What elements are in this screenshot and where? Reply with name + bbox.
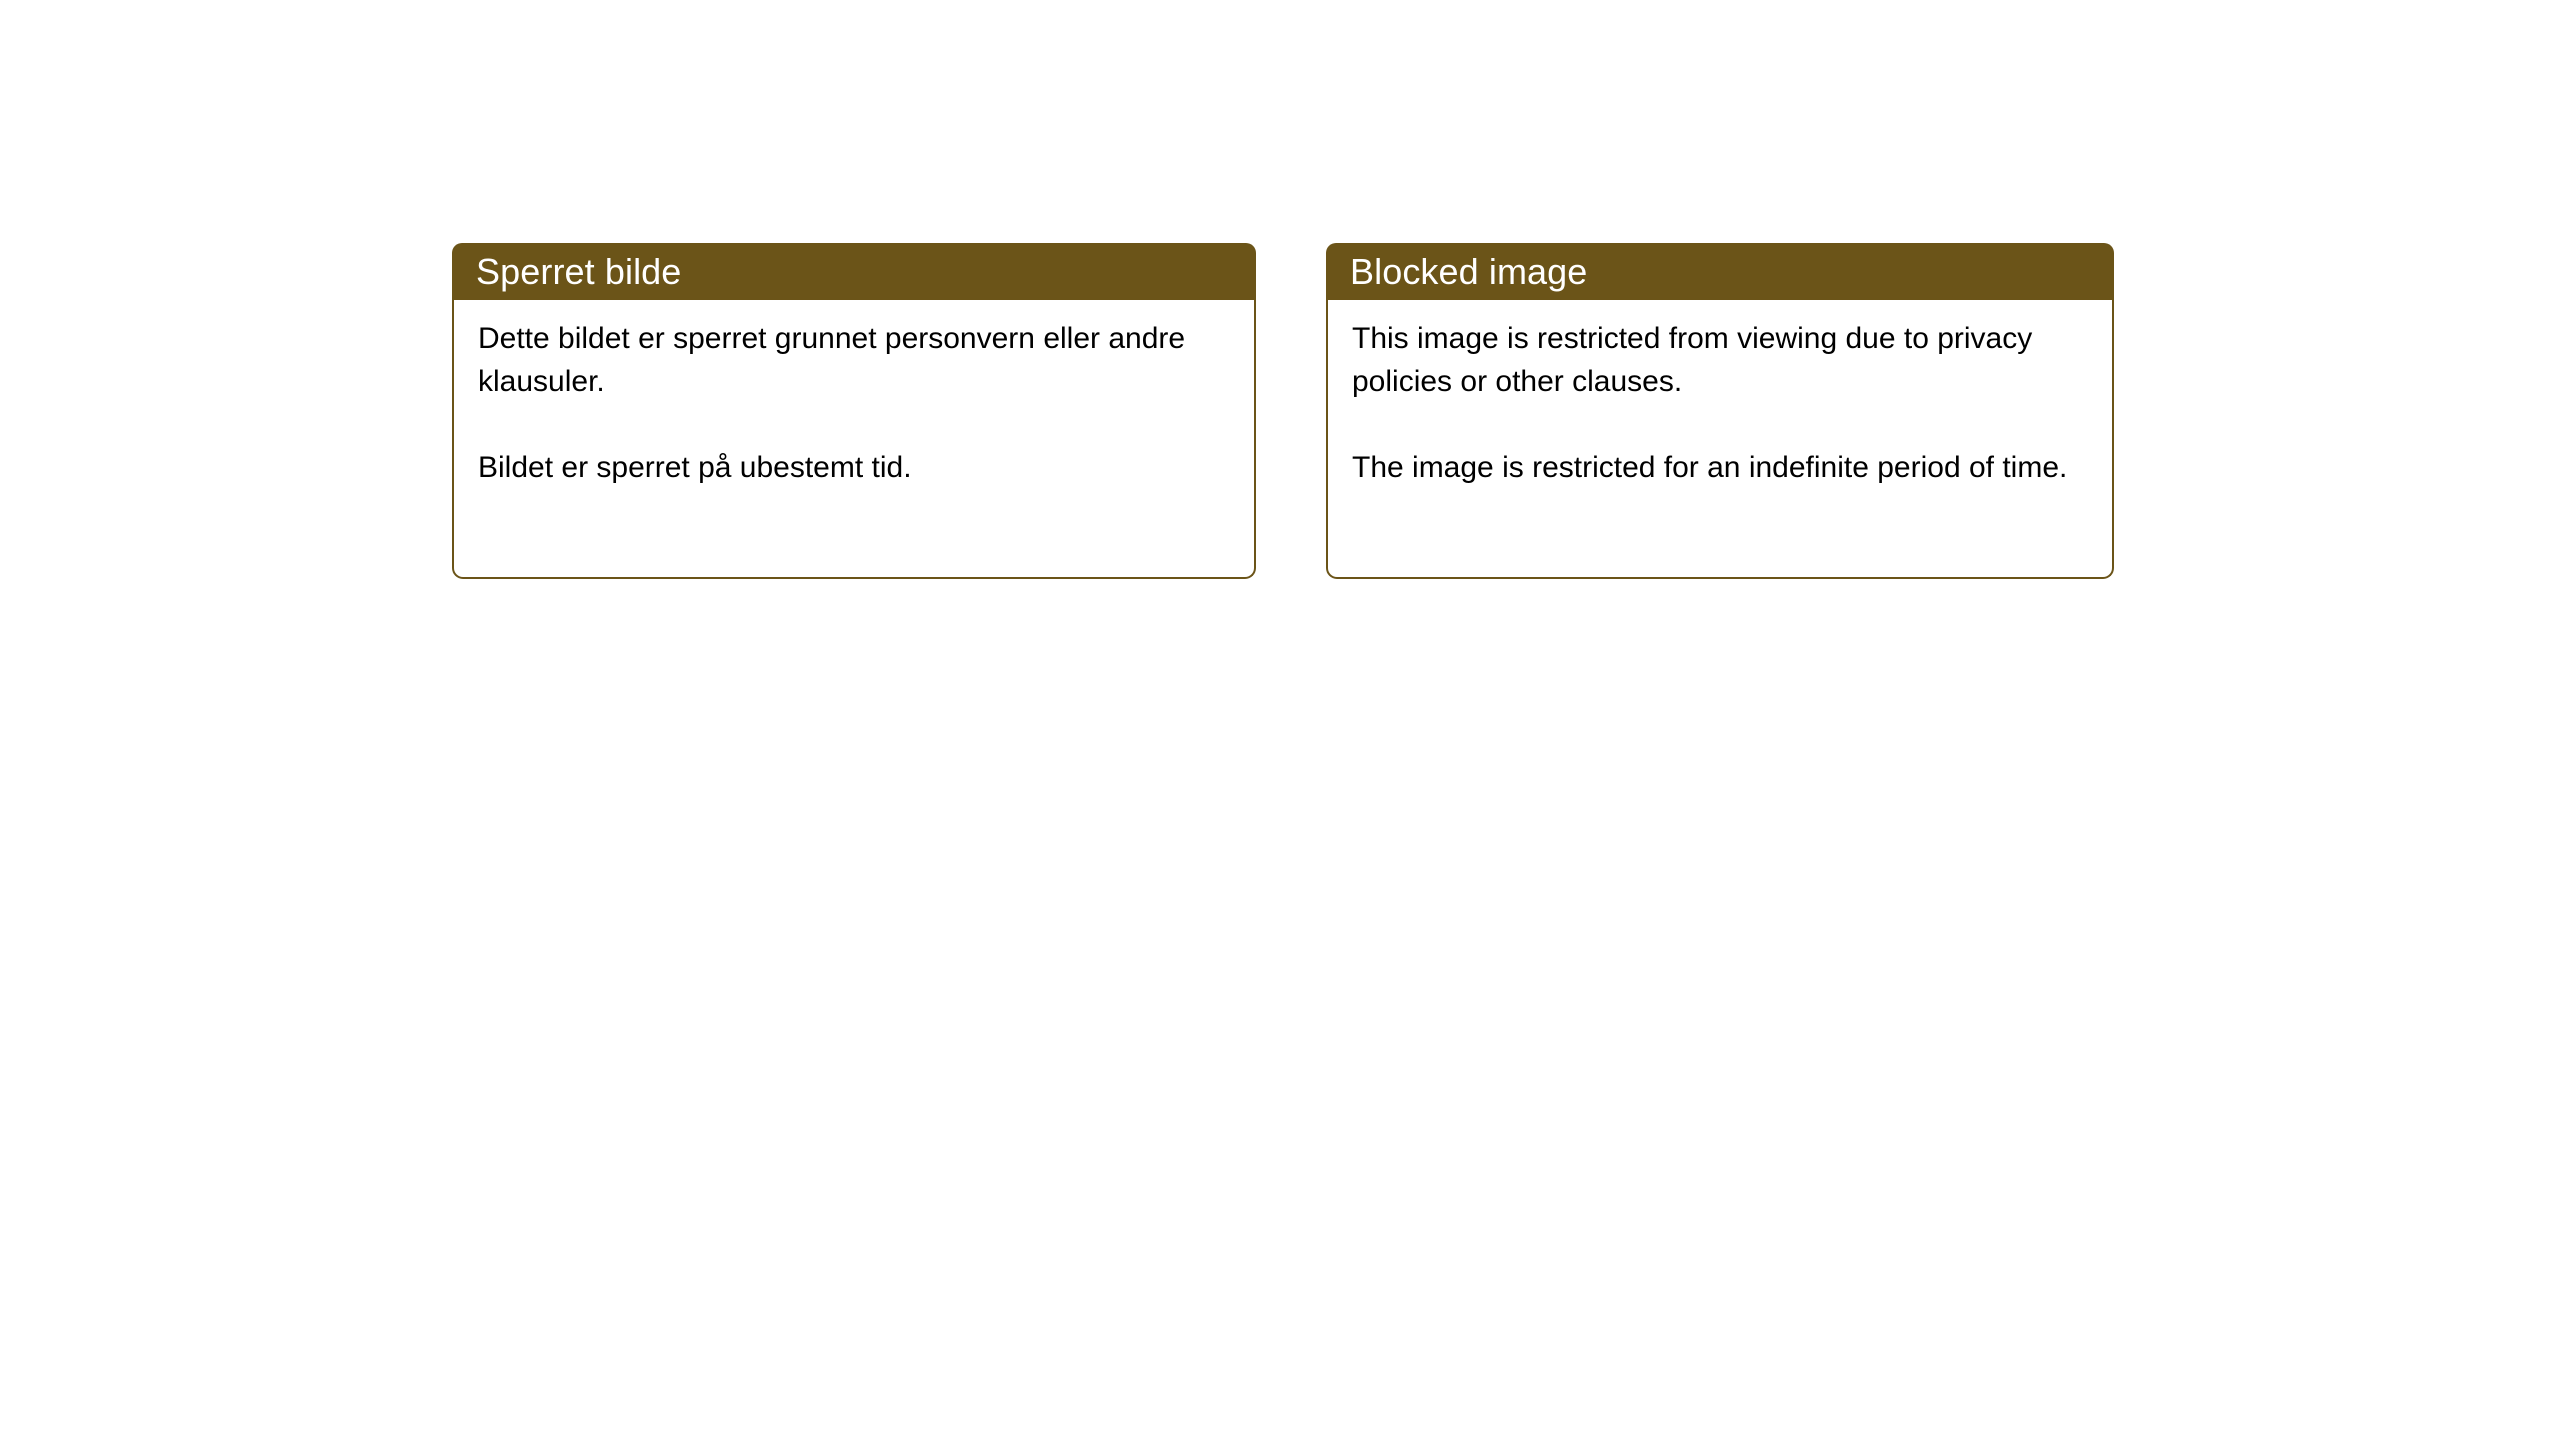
notice-card-paragraph-duration-en: The image is restricted for an indefinit… [1352, 446, 2090, 489]
notice-card-header-no: Sperret bilde [452, 243, 1256, 300]
notice-card-body-en: This image is restricted from viewing du… [1326, 300, 2114, 579]
notice-card-body-no: Dette bildet er sperret grunnet personve… [452, 300, 1256, 579]
blocked-image-notice-group: Sperret bilde Dette bildet er sperret gr… [452, 243, 2114, 579]
notice-card-paragraph-duration-no: Bildet er sperret på ubestemt tid. [478, 446, 1232, 489]
notice-card-title-no: Sperret bilde [476, 254, 681, 290]
blocked-image-notice-card-en: Blocked image This image is restricted f… [1326, 243, 2114, 579]
notice-card-header-en: Blocked image [1326, 243, 2114, 300]
page-root: Sperret bilde Dette bildet er sperret gr… [0, 0, 2560, 1440]
notice-card-paragraph-reason-no: Dette bildet er sperret grunnet personve… [478, 317, 1232, 403]
notice-card-paragraph-reason-en: This image is restricted from viewing du… [1352, 317, 2090, 403]
notice-card-title-en: Blocked image [1350, 254, 1587, 290]
blocked-image-notice-card-no: Sperret bilde Dette bildet er sperret gr… [452, 243, 1256, 579]
